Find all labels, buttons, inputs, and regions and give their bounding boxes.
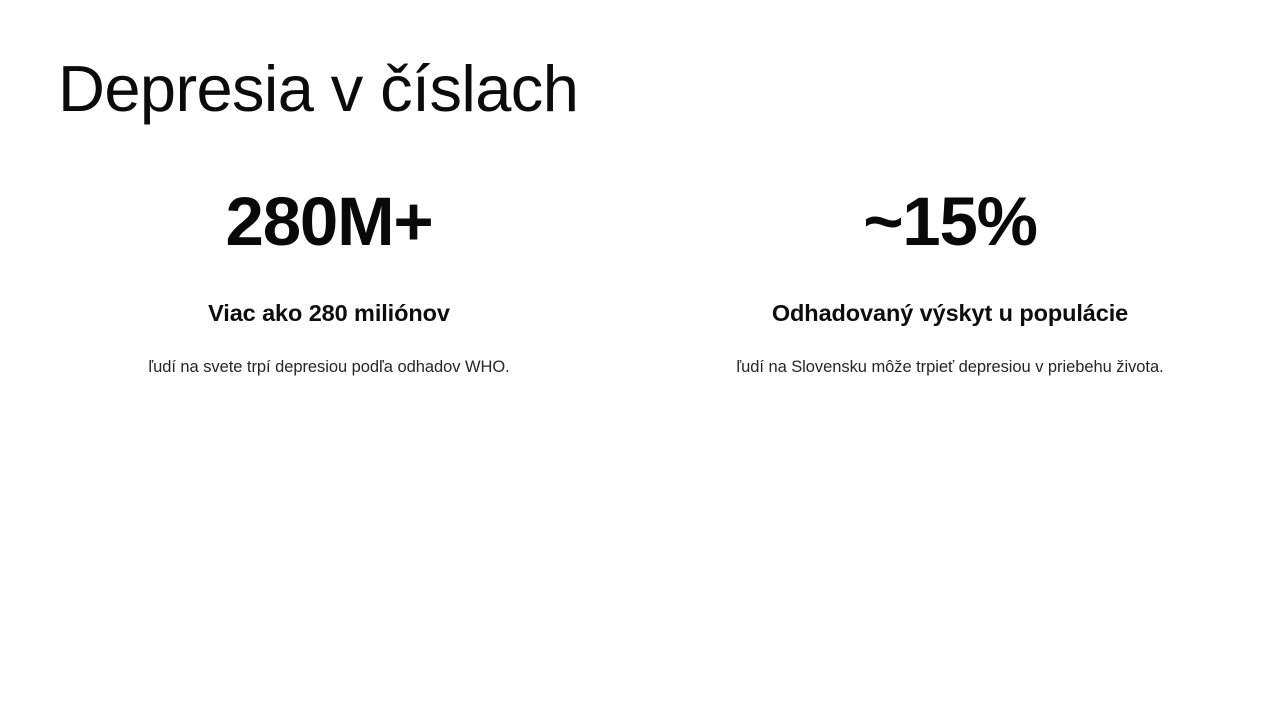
stat-value-global: 280M+ xyxy=(226,186,433,258)
statistics-row: 280M+ Viac ako 280 miliónov ľudí na svet… xyxy=(0,186,1280,378)
stat-card-slovakia: ~15% Odhadovaný výskyt u populácie ľudí … xyxy=(640,186,1280,378)
stat-label-slovakia: Odhadovaný výskyt u populácie xyxy=(772,299,1128,327)
stat-description-global: ľudí na svete trpí depresiou podľa odhad… xyxy=(148,356,509,378)
page-title: Depresia v číslach xyxy=(58,56,578,121)
presentation-slide: Depresia v číslach 280M+ Viac ako 280 mi… xyxy=(0,0,1280,720)
stat-description-slovakia: ľudí na Slovensku môže trpieť depresiou … xyxy=(736,356,1163,378)
stat-card-global: 280M+ Viac ako 280 miliónov ľudí na svet… xyxy=(0,186,640,378)
stat-label-global: Viac ako 280 miliónov xyxy=(208,299,450,327)
stat-value-slovakia: ~15% xyxy=(863,186,1037,258)
